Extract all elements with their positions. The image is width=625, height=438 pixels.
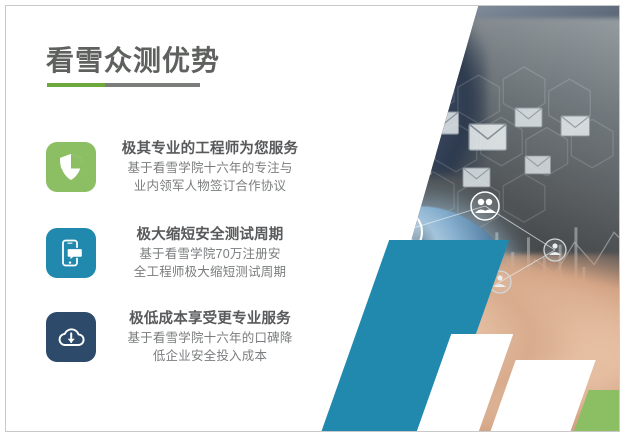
mask-bottom xyxy=(0,432,625,438)
mobile-message-icon xyxy=(46,228,96,278)
mask-top xyxy=(0,0,625,6)
feature-text: 极大缩短安全测试周期 基于看雪学院70万注册安 全工程师极大缩短测试周期 xyxy=(104,225,316,281)
feature-heading: 极低成本享受更专业服务 xyxy=(104,309,316,329)
feature-desc-line-1: 基于看雪学院十六年的专注与 xyxy=(104,159,316,177)
feature-heading: 极其专业的工程师为您服务 xyxy=(104,139,316,159)
feature-desc-line-2: 低企业安全投入成本 xyxy=(104,347,316,365)
mask-right xyxy=(619,0,625,438)
left-content-column: 看雪众测优势 极其专业的工程师为您服务 基于看雪学院十六年的专注与 业内领军人物… xyxy=(0,0,330,438)
feature-heading: 极大缩短安全测试周期 xyxy=(104,225,316,245)
feature-item[interactable]: 极低成本享受更专业服务 基于看雪学院十六年的口碑降 低企业安全投入成本 xyxy=(46,309,316,375)
shield-icon xyxy=(46,142,96,192)
feature-desc-line-1: 基于看雪学院70万注册安 xyxy=(104,245,316,263)
cloud-download-icon xyxy=(46,312,96,362)
feature-item[interactable]: 极其专业的工程师为您服务 基于看雪学院十六年的专注与 业内领军人物签订合作协议 xyxy=(46,139,316,205)
mask-left xyxy=(0,0,6,438)
page-title: 看雪众测优势 xyxy=(46,39,220,79)
feature-desc-line-2: 业内领军人物签订合作协议 xyxy=(104,177,316,195)
feature-desc-line-2: 全工程师极大缩短测试周期 xyxy=(104,263,316,281)
feature-item[interactable]: 极大缩短安全测试周期 基于看雪学院70万注册安 全工程师极大缩短测试周期 xyxy=(46,225,316,291)
feature-text: 极低成本享受更专业服务 基于看雪学院十六年的口碑降 低企业安全投入成本 xyxy=(104,309,316,365)
feature-desc-line-1: 基于看雪学院十六年的口碑降 xyxy=(104,329,316,347)
feature-text: 极其专业的工程师为您服务 基于看雪学院十六年的专注与 业内领军人物签订合作协议 xyxy=(104,139,316,195)
title-underline-rule xyxy=(47,83,200,87)
slide-root: 35% 看雪众测优势 极其专业的工程师为您服务 xyxy=(0,0,625,438)
